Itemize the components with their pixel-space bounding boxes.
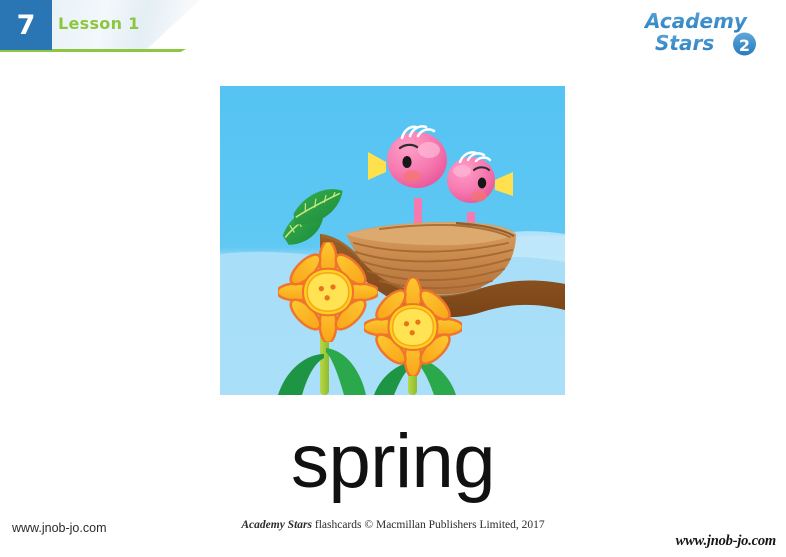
bird-right-cheek — [471, 191, 487, 202]
logo-line-academy: Academy — [643, 9, 748, 33]
header-banner: 7 Lesson 1 — [0, 0, 200, 52]
flashcard-illustration — [220, 86, 565, 395]
bird-left-cheek — [403, 170, 421, 182]
footer-site-right: www.jnob-jo.com — [676, 533, 776, 550]
bird-left-eye — [402, 156, 411, 168]
logo-level-number: 2 — [739, 36, 750, 55]
bird-right-head — [447, 157, 495, 203]
vocabulary-word: spring — [0, 418, 786, 505]
footer-copyright-brand: Academy Stars — [241, 519, 312, 531]
unit-number-badge: 7 — [0, 0, 52, 50]
logo-line-stars: Stars — [655, 31, 714, 55]
footer-copyright: Academy Stars flashcards © Macmillan Pub… — [0, 519, 786, 531]
academy-stars-logo: Academy Stars Academy Stars 2 — [642, 6, 764, 62]
academy-stars-logo-svg: Academy Stars Academy Stars 2 — [642, 6, 764, 62]
bird-right-eye — [478, 178, 486, 189]
spring-scene-svg — [220, 86, 565, 395]
unit-number-text: 7 — [17, 12, 36, 39]
logo-level-badge: 2 — [733, 33, 756, 56]
footer-copyright-rest: flashcards © Macmillan Publishers Limite… — [312, 519, 545, 531]
lesson-ribbon-underline — [52, 49, 186, 52]
lesson-label: Lesson 1 — [58, 14, 140, 33]
unit-number-underline — [0, 50, 52, 52]
